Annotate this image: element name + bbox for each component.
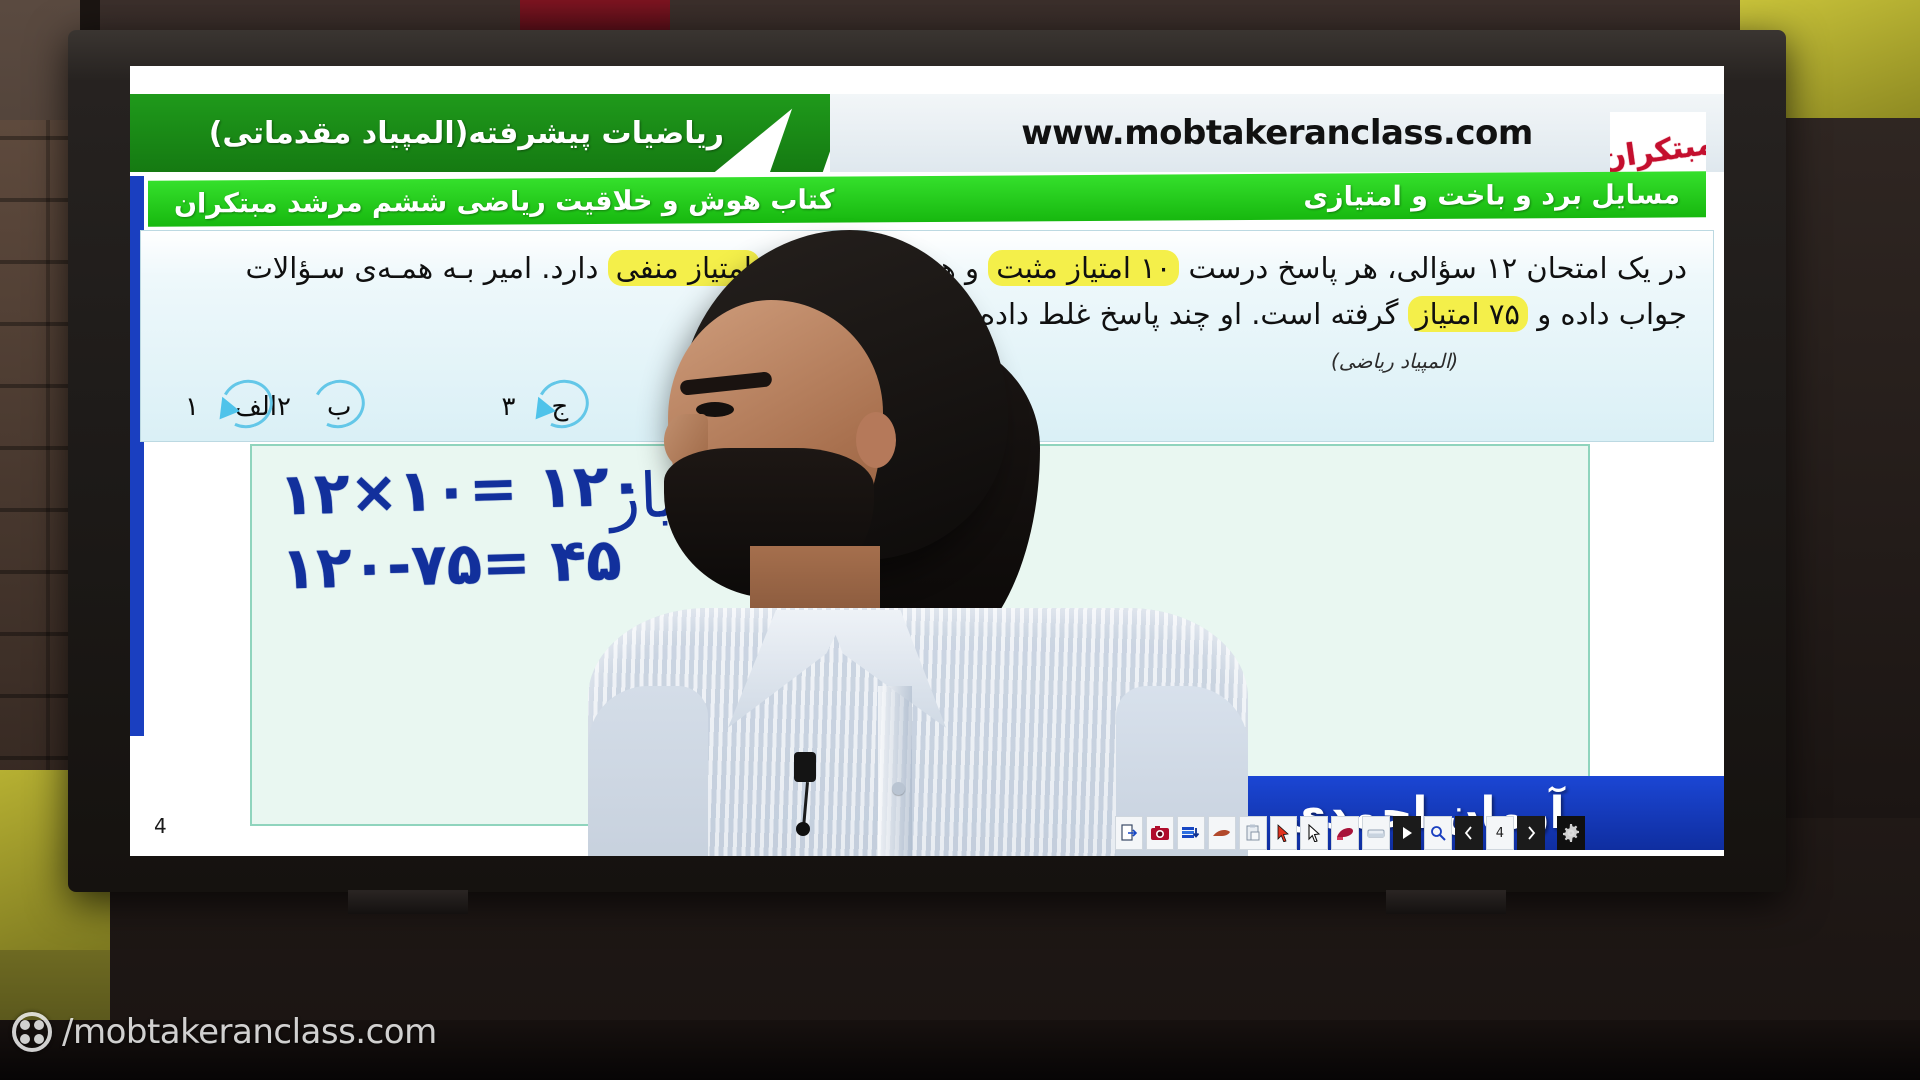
chapter-book: کتاب هوش و خلاقیت ریاضی ششم مرشد مبتکران	[174, 184, 834, 219]
eraser-icon[interactable]	[1362, 816, 1390, 850]
shirt-button	[892, 782, 905, 795]
camera-icon[interactable]	[1146, 816, 1174, 850]
film-reel-icon	[12, 1012, 52, 1052]
option-be-tag: ب	[327, 392, 351, 422]
lapel-microphone	[794, 752, 816, 782]
question-source: (المپیاد ریاضی)	[1331, 349, 1458, 373]
display-screen[interactable]: ریاضیات پیشرفته(المپیاد مقدماتی) www.mob…	[130, 66, 1724, 856]
save-layers-icon[interactable]	[1177, 816, 1205, 850]
website-banner: www.mobtakeranclass.com	[830, 94, 1724, 172]
prev-page-icon[interactable]	[1455, 816, 1483, 850]
display-stand-left	[348, 890, 468, 914]
interactive-display-bezel: ریاضیات پیشرفته(المپیاد مقدماتی) www.mob…	[68, 30, 1786, 892]
watermark: /mobtakeranclass.com	[12, 1012, 437, 1052]
option-arrow-icon	[529, 393, 557, 420]
display-stand-right	[1386, 890, 1506, 914]
chapter-topic: مسایل برد و باخت و امتیازی	[1303, 179, 1680, 212]
lesson-slide: ریاضیات پیشرفته(المپیاد مقدماتی) www.mob…	[130, 66, 1724, 856]
page-number: 4	[154, 814, 167, 838]
subject-banner: ریاضیات پیشرفته(المپیاد مقدماتی)	[130, 94, 810, 172]
option-ring-icon	[307, 373, 371, 435]
clipboard-icon[interactable]	[1239, 816, 1267, 850]
option-arrow-icon	[212, 393, 240, 420]
watermark-text: /mobtakeranclass.com	[62, 1012, 437, 1052]
play-icon[interactable]	[1393, 816, 1421, 850]
arm-left	[588, 686, 708, 856]
option-be-value: ۲	[277, 392, 291, 422]
zoom-icon[interactable]	[1424, 816, 1452, 850]
next-page-icon[interactable]	[1517, 816, 1545, 850]
microphone-clip	[796, 822, 810, 836]
settings-gear-icon[interactable]	[1557, 816, 1585, 850]
page-indicator[interactable]: 4	[1486, 816, 1514, 850]
option-alef[interactable]: الف ۱	[185, 392, 277, 422]
cursor-arrow-icon[interactable]	[1300, 816, 1328, 850]
whiteboard-toolbar[interactable]: 4	[1115, 812, 1585, 854]
shirt-placket	[878, 686, 912, 856]
option-be[interactable]: ب ۲	[277, 392, 351, 422]
option-alef-tag: الف	[235, 392, 277, 422]
website-url: www.mobtakeranclass.com	[1021, 113, 1533, 153]
cursor-red-icon[interactable]	[1270, 816, 1298, 850]
slide-header: ریاضیات پیشرفته(المپیاد مقدماتی) www.mob…	[130, 94, 1724, 172]
option-jim[interactable]: ج ۳	[501, 392, 568, 422]
page-indicator-value: 4	[1496, 827, 1504, 840]
subject-title: ریاضیات پیشرفته(المپیاد مقدماتی)	[209, 116, 724, 151]
option-alef-value: ۱	[185, 392, 199, 422]
export-page-icon[interactable]	[1115, 816, 1143, 850]
pen-icon[interactable]	[1331, 816, 1359, 850]
brand-logo-text: مبتکران	[1610, 126, 1706, 177]
ear	[856, 412, 896, 468]
presenter-figure	[560, 216, 1260, 856]
hand-icon[interactable]	[1208, 816, 1236, 850]
option-jim-value: ۳	[501, 392, 515, 422]
